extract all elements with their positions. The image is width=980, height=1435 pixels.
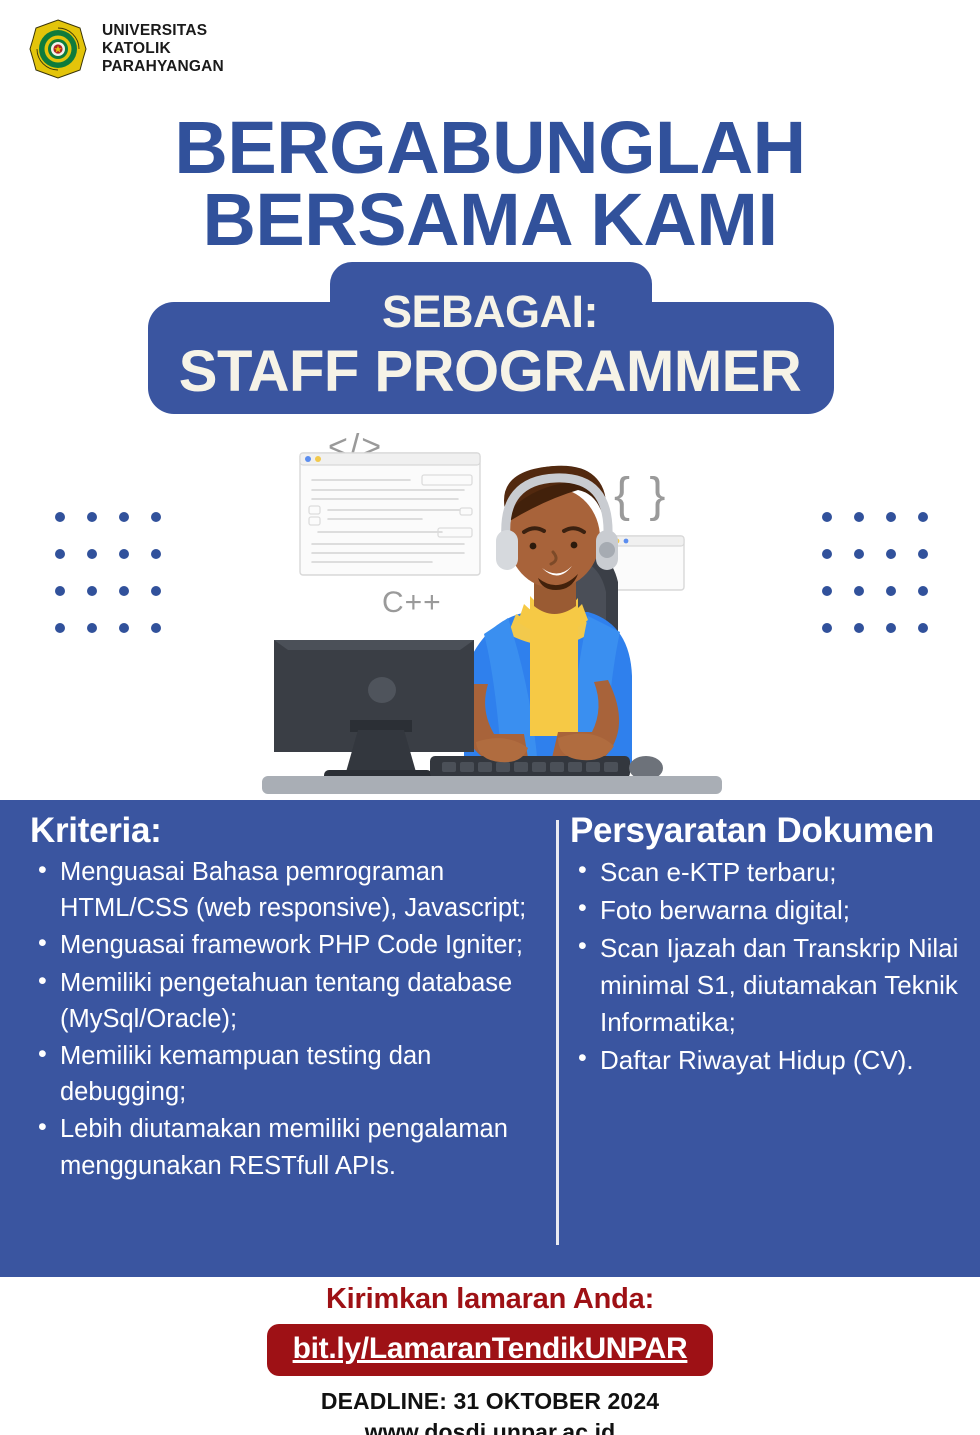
list-item: Scan Ijazah dan Transkrip Nilai minimal … (600, 930, 970, 1041)
footer: Kirimkan lamaran Anda: bit.ly/LamaranTen… (0, 1283, 980, 1435)
badge-label-sebagai: SEBAGAI: (0, 286, 980, 338)
dot (151, 512, 161, 522)
dot-grid-right (822, 512, 950, 660)
code-window-graphic (300, 453, 480, 575)
dot (886, 512, 896, 522)
brand-name-line1: UNIVERSITAS (102, 22, 224, 40)
dot (918, 623, 928, 633)
list-item: Foto berwarna digital; (600, 892, 970, 929)
dot (918, 549, 928, 559)
dot (55, 549, 65, 559)
application-link-button[interactable]: bit.ly/LamaranTendikUNPAR (267, 1324, 714, 1376)
requirements-panel: Kriteria: Menguasai Bahasa pemrograman H… (0, 800, 980, 1277)
documents-column: Persyaratan Dokumen Scan e-KTP terbaru; … (570, 810, 970, 1079)
unpar-shield-logo-icon (28, 18, 88, 80)
list-item: Memiliki pengetahuan tentang database (M… (60, 965, 550, 1037)
dot (854, 512, 864, 522)
list-item: Scan e-KTP terbaru; (600, 854, 970, 891)
criteria-heading: Kriteria: (30, 810, 550, 852)
dot (854, 623, 864, 633)
headline-line2: BERSAMA KAMI (0, 184, 980, 256)
dot (822, 549, 832, 559)
dot (119, 586, 129, 596)
dot-grid-left (55, 512, 183, 660)
list-item: Lebih diutamakan memiliki pengalaman men… (60, 1111, 550, 1183)
headline: BERGABUNGLAH BERSAMA KAMI (0, 112, 980, 256)
dot (87, 586, 97, 596)
dot (886, 623, 896, 633)
dot (918, 512, 928, 522)
list-item: Menguasai Bahasa pemrograman HTML/CSS (w… (60, 854, 550, 926)
brand-logo-block: UNIVERSITAS KATOLIK PARAHYANGAN (28, 18, 224, 80)
job-title-badge: SEBAGAI: STAFF PROGRAMMER (0, 262, 980, 414)
dot (87, 512, 97, 522)
cta-title: Kirimkan lamaran Anda: (0, 1283, 980, 1316)
dot (87, 623, 97, 633)
dot (822, 512, 832, 522)
column-divider (556, 820, 559, 1245)
dot (822, 586, 832, 596)
dot (119, 623, 129, 633)
brand-name-line2: KATOLIK (102, 40, 224, 58)
recruitment-poster: UNIVERSITAS KATOLIK PARAHYANGAN BERGABUN… (0, 0, 980, 1435)
brand-name-line3: PARAHYANGAN (102, 58, 224, 76)
dot (55, 512, 65, 522)
dot (119, 512, 129, 522)
dot (854, 586, 864, 596)
dot (886, 586, 896, 596)
dot (822, 623, 832, 633)
website-text: www.dosdi.unpar.ac.id (0, 1419, 980, 1435)
documents-list: Scan e-KTP terbaru; Foto berwarna digita… (570, 854, 970, 1078)
dot (918, 586, 928, 596)
dot (87, 549, 97, 559)
programmer-illustration (262, 418, 722, 803)
dot (119, 549, 129, 559)
deadline-text: DEADLINE: 31 OKTOBER 2024 (0, 1388, 980, 1415)
dot (854, 549, 864, 559)
brand-name: UNIVERSITAS KATOLIK PARAHYANGAN (102, 22, 224, 77)
list-item: Memiliki kemampuan testing dan debugging… (60, 1038, 550, 1110)
dot (55, 586, 65, 596)
badge-label-position: STAFF PROGRAMMER (0, 338, 980, 405)
dot (55, 623, 65, 633)
list-item: Menguasai framework PHP Code Igniter; (60, 927, 550, 963)
dot (151, 549, 161, 559)
headline-line1: BERGABUNGLAH (174, 106, 805, 189)
dot (886, 549, 896, 559)
criteria-column: Kriteria: Menguasai Bahasa pemrograman H… (30, 810, 550, 1185)
documents-heading: Persyaratan Dokumen (570, 810, 970, 852)
dot (151, 623, 161, 633)
php-window-graphic (610, 536, 684, 590)
dot (151, 586, 161, 596)
list-item: Daftar Riwayat Hidup (CV). (600, 1042, 970, 1079)
criteria-list: Menguasai Bahasa pemrograman HTML/CSS (w… (30, 854, 550, 1184)
